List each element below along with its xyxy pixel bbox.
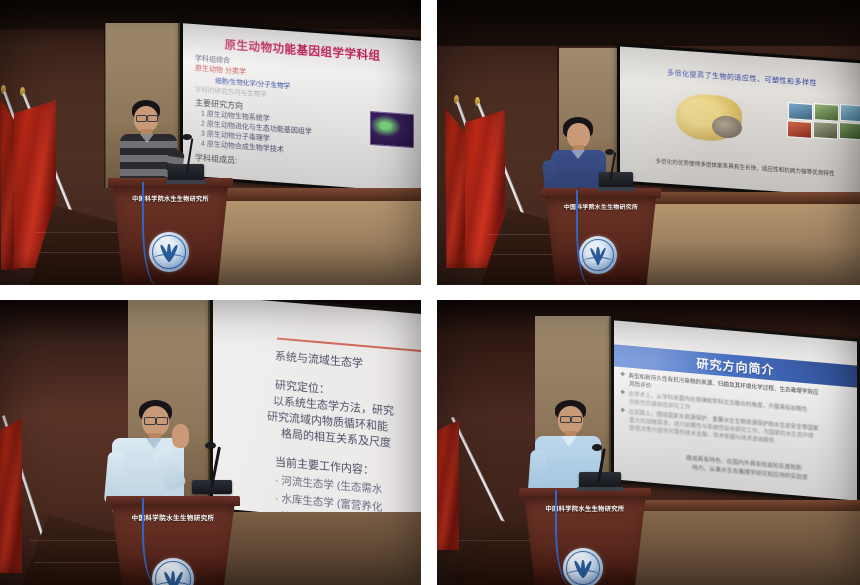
photo-thumb-4 <box>787 120 812 139</box>
red-flag <box>0 418 22 573</box>
podium: 中国科学院水生生物研究所 <box>541 188 661 285</box>
projection-screen-frame: 多倍化提高了生物的适应性、可塑性和多样性 多倍化的优势使得多倍体家系具有生长快、… <box>617 43 860 200</box>
glasses-icon <box>136 115 147 122</box>
panel-4-bottom-right: 研究方向简介 ❖ 典型和新持久性有机污染物的来源、归趋及其环境化学过程、生态毒理… <box>437 300 860 585</box>
panel-3-bottom-left: 系统与流域生态学 研究定位： 以系统生态学方法，研究 研究流域内物质循环和能 格… <box>0 300 421 585</box>
projection-screen: 原生动物功能基因组学学科组 学科组综合 原生动物 分类学 细胞/生物化学/分子生… <box>183 23 421 193</box>
photo-thumb-1 <box>788 102 813 121</box>
microphone-head-icon <box>182 134 192 140</box>
photo-thumb-2 <box>814 103 839 122</box>
panel-1-top-left: 原生动物功能基因组学学科组 学科组综合 原生动物 分类学 细胞/生物化学/分子生… <box>0 0 421 285</box>
bullet-marker: ❖ <box>620 389 625 397</box>
photo-thumb-3 <box>840 104 860 123</box>
microphone-head-icon <box>592 444 602 451</box>
glasses-icon <box>571 416 582 423</box>
laptop-base <box>597 187 635 191</box>
laptop-base <box>577 487 623 491</box>
slide-2: 多倍化提高了生物的适应性、可塑性和多样性 多倍化的优势使得多倍体家系具有生长快、… <box>620 46 860 197</box>
glasses-icon <box>156 417 168 425</box>
microphone-head-icon <box>605 149 614 155</box>
slide-title: 多倍化提高了生物的适应性、可塑性和多样性 <box>626 65 858 91</box>
bullet-marker: ❖ <box>620 371 625 379</box>
slide-3: 系统与流域生态学 研究定位： 以系统生态学方法，研究 研究流域内物质循环和能 格… <box>213 300 421 526</box>
podium-institute-name: 中国科学院水生生物研究所 <box>108 194 233 203</box>
projection-screen: 系统与流域生态学 研究定位： 以系统生态学方法，研究 研究流域内物质循环和能 格… <box>213 300 421 526</box>
podium-institute-name: 中国科学院水生生物研究所 <box>519 504 651 513</box>
podium: 中国科学院水生生物研究所 <box>519 488 651 585</box>
photo-collage-grid: 原生动物功能基因组学学科组 学科组综合 原生动物 分类学 细胞/生物化学/分子生… <box>0 0 860 585</box>
podium-institute-name: 中国科学院水生生物研究所 <box>106 512 240 522</box>
bullet-marker: ❖ <box>620 407 625 415</box>
projection-screen-frame: 原生动物功能基因组学学科组 学科组综合 原生动物 分类学 细胞/生物化学/分子生… <box>180 20 421 196</box>
fluorescence-microscopy-thumbnail <box>370 111 414 148</box>
podium: 中国科学院水生生物研究所 <box>106 496 240 585</box>
slide-4: ❖ 典型和新持久性有机污染物的来源、归趋及其环境化学过程、生态毒理学效应 风险评… <box>614 320 857 500</box>
slide-footer: 多倍化的优势使得多倍体家系具有生长快、适应性和抗病力强等优良特性 <box>630 155 860 179</box>
projection-screen-frame: 系统与流域生态学 研究定位： 以系统生态学方法，研究 研究流域内物质循环和能 格… <box>210 300 421 529</box>
wall-top-shadow <box>437 0 860 46</box>
laptop-base <box>166 180 206 184</box>
projection-screen: 研究方向简介 ❖ 典型和新持久性有机污染物的来源、归趋及其环境化学过程、生态毒理… <box>614 320 857 500</box>
microphone-head-icon <box>205 442 216 449</box>
glasses-icon <box>147 115 158 122</box>
photo-thumb-6 <box>839 122 860 141</box>
projection-screen: 多倍化提高了生物的适应性、可塑性和多样性 多倍化的优势使得多倍体家系具有生长快、… <box>620 46 860 197</box>
glasses-icon <box>560 416 571 423</box>
photo-thumb-5 <box>813 121 838 140</box>
slide-1: 原生动物功能基因组学学科组 学科组综合 原生动物 分类学 细胞/生物化学/分子生… <box>183 23 421 193</box>
laptop-screen <box>599 172 633 188</box>
hand-gesture <box>172 424 189 448</box>
podium: 中国科学院水生生物研究所 <box>108 178 233 285</box>
glasses-icon <box>144 417 156 425</box>
red-flag <box>437 420 459 550</box>
projection-screen-frame: 研究方向简介 ❖ 典型和新持久性有机污染物的来源、归趋及其环境化学过程、生态毒理… <box>611 317 860 504</box>
wall-seam <box>104 23 106 188</box>
panel-2-top-right: 多倍化提高了生物的适应性、可塑性和多样性 多倍化的优势使得多倍体家系具有生长快、… <box>437 0 860 285</box>
podium-institute-name: 中国科学院水生生物研究所 <box>541 202 661 211</box>
